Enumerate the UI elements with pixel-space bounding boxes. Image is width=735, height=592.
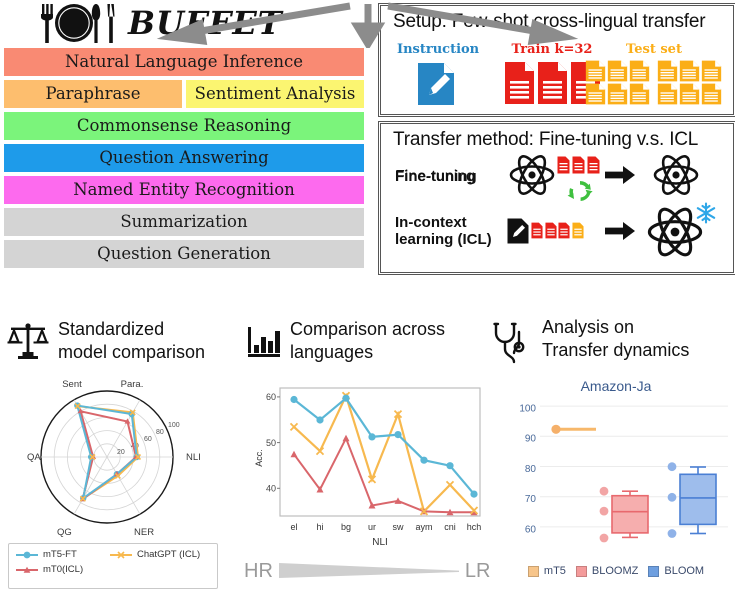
document-icon bbox=[629, 83, 650, 105]
document-icon bbox=[679, 83, 700, 105]
document-icon bbox=[679, 60, 700, 82]
setup-col-instruction: Instruction bbox=[397, 42, 475, 112]
test-documents bbox=[579, 60, 727, 105]
document-icon bbox=[504, 61, 535, 105]
task-bar-paraphrase[interactable]: Paraphrase Detection bbox=[4, 80, 182, 108]
line-xtick-hi: hi bbox=[316, 522, 323, 532]
box-point bbox=[600, 487, 609, 496]
radar-axis-label-nli: NLI bbox=[186, 452, 201, 463]
legend-swatch bbox=[528, 566, 539, 577]
lr-label: LR bbox=[465, 560, 491, 583]
setup-col-test: Test set bbox=[579, 42, 729, 105]
document-icon bbox=[701, 60, 722, 82]
line-ytick-60: 60 bbox=[266, 392, 276, 402]
box-ytick-90: 90 bbox=[525, 434, 537, 445]
document-pencil-icon bbox=[397, 61, 475, 112]
legend-bloomz[interactable]: BLOOMZ bbox=[576, 565, 638, 577]
section-title: Standardized model comparison bbox=[58, 318, 205, 364]
task-bar-question-generation[interactable]: Question Generation bbox=[4, 240, 364, 268]
recycle-arrows-icon bbox=[567, 179, 593, 208]
radar-axis-label-qa: QA bbox=[27, 452, 41, 463]
document-icon bbox=[585, 83, 606, 105]
snowflake-icon bbox=[695, 202, 717, 229]
task-bar-sentiment[interactable]: Sentiment Analysis bbox=[186, 80, 364, 108]
line-xtick-cni: cni bbox=[444, 522, 456, 532]
box-ytick-80: 80 bbox=[525, 464, 537, 475]
box-series-bloomz bbox=[600, 487, 648, 543]
radar-tick-60: 60 bbox=[144, 436, 152, 443]
box-ytick-70: 70 bbox=[525, 494, 537, 505]
legend-mt5[interactable]: mT5 bbox=[528, 565, 566, 577]
legend-swatch bbox=[576, 566, 587, 577]
box-ytick-60: 60 bbox=[525, 524, 537, 535]
task-bar-ner[interactable]: Named Entity Recognition bbox=[4, 176, 364, 204]
legend-bloom[interactable]: BLOOM bbox=[648, 565, 704, 577]
section-comparison-languages: Comparison across languages bbox=[246, 318, 486, 364]
line-xtick-bg: bg bbox=[341, 522, 351, 532]
transfer-panel: Transfer method: Fine-tuning v.s. ICL Fi… bbox=[378, 121, 735, 275]
line-ytick-40: 40 bbox=[266, 484, 276, 494]
boxplot-title: Amazon-Ja bbox=[500, 378, 732, 394]
section-title: Analysis on Transfer dynamics bbox=[542, 316, 689, 362]
radar-axis-label-qg: QG bbox=[57, 527, 72, 538]
task-bar-summarization[interactable]: Summarization bbox=[4, 208, 364, 236]
atom-icon bbox=[653, 154, 699, 201]
box-ytick-100: 100 bbox=[519, 404, 536, 415]
bar-chart-icon bbox=[246, 323, 282, 364]
line-xtick-ur: ur bbox=[368, 522, 376, 532]
atom-icon bbox=[509, 154, 555, 201]
section-title: Comparison across languages bbox=[290, 318, 445, 364]
task-list: Natural Language Inference Paraphrase De… bbox=[4, 48, 364, 272]
document-icon bbox=[629, 60, 650, 82]
transfer-panel-title: Transfer method: Fine-tuning v.s. ICL bbox=[381, 124, 733, 151]
document-icon bbox=[607, 60, 628, 82]
legend-mt0[interactable]: mT0(ICL) bbox=[15, 564, 99, 575]
hr-label: HR bbox=[244, 560, 273, 583]
legend-swatch bbox=[648, 566, 659, 577]
document-icon bbox=[537, 61, 568, 105]
radar-chart: Para. Sent QA QG NER NLI 20 bbox=[22, 375, 222, 540]
red-documents-icon bbox=[531, 222, 584, 239]
arrow-down-right-icon bbox=[388, 6, 565, 41]
icl-label-text: In-context learning (ICL) bbox=[395, 214, 505, 248]
line-xlabel: NLI bbox=[372, 537, 388, 548]
radar-axis-label-sent: Sent bbox=[62, 379, 82, 390]
legend-label: BLOOMZ bbox=[592, 565, 638, 577]
document-icon bbox=[585, 60, 606, 82]
box-point bbox=[600, 507, 609, 516]
legend-chatgpt[interactable]: ChatGPT (ICL) bbox=[109, 549, 205, 560]
radar-tick-20: 20 bbox=[117, 449, 125, 456]
task-bar-commonsense[interactable]: Commonsense Reasoning bbox=[4, 112, 364, 140]
box-chart: 60 70 80 90 100 bbox=[500, 394, 732, 569]
box-legend: mT5 BLOOMZ BLOOM bbox=[500, 558, 732, 584]
legend-label: BLOOM bbox=[664, 565, 704, 577]
arrow-down-left-icon bbox=[170, 6, 350, 41]
radar-legend: mT5-FT ChatGPT (ICL) mT0(ICL) bbox=[8, 543, 218, 589]
line-ytick-50: 50 bbox=[266, 438, 276, 448]
orange-document-icon bbox=[572, 222, 584, 239]
legend-label: mT0(ICL) bbox=[43, 564, 83, 575]
line-xtick-el: el bbox=[290, 522, 297, 532]
line-ylabel: Acc. bbox=[254, 449, 264, 467]
line-xtick-sw: sw bbox=[393, 522, 405, 532]
radar-axis-label-ner: NER bbox=[134, 527, 154, 538]
box-point bbox=[668, 493, 677, 502]
legend-mt5ft[interactable]: mT5-FT bbox=[15, 549, 99, 560]
document-icon bbox=[657, 83, 678, 105]
section-transfer-dynamics: Analysis on Transfer dynamics bbox=[488, 316, 730, 372]
black-document-pencil-icon bbox=[507, 218, 529, 249]
radar-axis-label-para: Para. bbox=[121, 379, 144, 390]
box-series-mt5 bbox=[551, 425, 596, 434]
arrow-down-icon bbox=[357, 4, 379, 44]
document-icon bbox=[701, 83, 722, 105]
legend-label: mT5-FT bbox=[43, 549, 77, 560]
box-point bbox=[668, 462, 677, 471]
stethoscope-icon bbox=[488, 319, 534, 372]
red-documents-icon bbox=[557, 156, 600, 174]
right-arrow-icon bbox=[605, 222, 635, 245]
line-xtick-hch: hch bbox=[467, 522, 482, 532]
document-icon bbox=[607, 83, 628, 105]
box-point bbox=[600, 534, 609, 543]
section-standardized-comparison: Standardized model comparison bbox=[6, 318, 234, 368]
hr-lr-wedge-icon bbox=[279, 560, 459, 582]
arrow-band bbox=[0, 0, 735, 48]
right-arrow-icon bbox=[605, 166, 635, 189]
scales-icon bbox=[6, 321, 50, 368]
task-bar-nli[interactable]: Natural Language Inference bbox=[4, 48, 364, 76]
line-xtick-aym: aym bbox=[415, 522, 432, 532]
task-bar-qa[interactable]: Question Answering bbox=[4, 144, 364, 172]
legend-label: mT5 bbox=[544, 565, 566, 577]
legend-label: ChatGPT (ICL) bbox=[137, 549, 200, 560]
radar-tick-80: 80 bbox=[156, 429, 164, 436]
document-icon bbox=[657, 60, 678, 82]
radar-tick-100: 100 bbox=[168, 422, 180, 429]
line-chart: 40 50 60 Acc. el hi bg ur sw aym cni hch… bbox=[252, 378, 487, 553]
finetuning-label-text: Fine-tuning bbox=[395, 168, 505, 185]
hr-lr-scale: HR LR bbox=[244, 556, 492, 586]
box-point bbox=[668, 529, 677, 538]
